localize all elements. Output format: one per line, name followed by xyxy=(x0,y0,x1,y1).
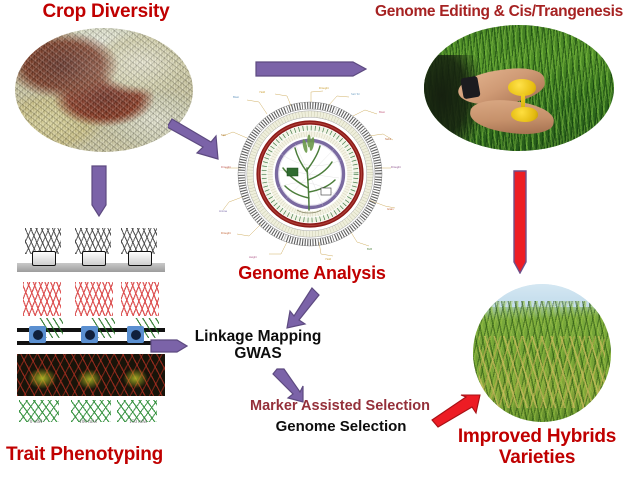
darkfield-yellow-signal xyxy=(17,354,165,396)
photo-highlight xyxy=(15,28,193,152)
label-marker-assisted-selection: Marker Assisted Selection xyxy=(240,398,440,414)
arrow-crop-to-phenotyping xyxy=(88,165,110,217)
svg-text:Yield: Yield xyxy=(259,90,265,94)
svg-text:Yield: Yield xyxy=(325,257,331,261)
circos-genome-analysis-plot: Yield Drought Salt Tol Blast Sub1 Drough… xyxy=(219,84,401,264)
rail-collar xyxy=(81,326,98,343)
treatment-label-100mm: 100 mM xyxy=(69,419,107,425)
svg-text:Drought: Drought xyxy=(221,165,231,169)
rice-panicles xyxy=(479,336,606,408)
treatment-label-150mm: 150 mM xyxy=(119,419,157,425)
phenotyping-strip-darkfield-imaging xyxy=(17,354,165,396)
phenotyping-strip-hydroponic-rail xyxy=(17,320,165,352)
rail-collar xyxy=(127,326,144,343)
improved-hybrids-photo xyxy=(473,284,611,422)
title-crop-diversity: Crop Diversity xyxy=(16,1,196,22)
label-gwas: GWAS xyxy=(180,345,336,362)
trait-phenotyping-panel xyxy=(17,228,165,424)
inset-white-panel xyxy=(321,188,331,195)
svg-text:Drought: Drought xyxy=(391,165,401,169)
genome-editing-photo xyxy=(424,25,614,151)
title-genome-analysis: Genome Analysis xyxy=(222,263,402,283)
svg-text:Blast: Blast xyxy=(233,95,239,99)
svg-text:Drought: Drought xyxy=(319,86,329,90)
title-improved-hybrids: Improved Hybrids Varieties xyxy=(438,426,636,469)
label-linkage-mapping: Linkage Mapping xyxy=(195,328,322,345)
arrow-genome-editing-to-hybrids xyxy=(510,170,530,274)
svg-text:Height: Height xyxy=(249,255,257,259)
plant-pot xyxy=(32,251,56,266)
golden-rice-grains-upper xyxy=(508,79,537,95)
rail-collar xyxy=(29,326,46,343)
arrow-genome-analysis-to-linkage xyxy=(286,287,320,329)
svg-text:Aroma: Aroma xyxy=(219,209,227,213)
label-linkage-mapping-gwas: Linkage Mapping GWAS xyxy=(180,328,336,363)
arrow-crop-to-genome-editing xyxy=(255,58,367,80)
phenotyping-treatment-labels: 0 mM 100 mM 150 mM xyxy=(17,419,165,431)
inset-green-panel xyxy=(287,168,298,176)
plant-pot xyxy=(82,251,106,266)
svg-text:Grain: Grain xyxy=(387,207,394,211)
svg-text:Salt Tol: Salt Tol xyxy=(351,92,360,96)
workflow-diagram-canvas: 0 mM 100 mM 150 mM Yield Drought Salt To… xyxy=(0,0,638,479)
improved-hybrids-line1: Improved Hybrids xyxy=(458,426,616,447)
arrow-crop-to-genome-analysis xyxy=(168,118,224,164)
label-genome-selection: Genome Selection xyxy=(248,419,434,436)
phenotyping-strip-red-fluorescence xyxy=(17,278,165,318)
fluorescent-shoot xyxy=(75,282,113,316)
svg-text:Sub1: Sub1 xyxy=(385,137,392,141)
improved-hybrids-line2: Varieties xyxy=(499,447,575,468)
svg-text:Blast: Blast xyxy=(379,110,385,114)
phenotyping-strip-greenhouse-pots xyxy=(17,228,165,276)
svg-text:Drought: Drought xyxy=(221,231,231,235)
title-trait-phenotyping: Trait Phenotyping xyxy=(6,444,196,465)
treatment-label-0mm: 0 mM xyxy=(17,419,55,425)
wristwatch xyxy=(460,75,481,99)
svg-text:BLB: BLB xyxy=(367,247,372,251)
fluorescent-shoot xyxy=(23,282,61,316)
plant-pot xyxy=(128,251,152,266)
crop-diversity-photo xyxy=(15,28,193,152)
title-genome-editing: Genome Editing & Cis/Trangenesis xyxy=(360,3,638,20)
fluorescent-shoot xyxy=(121,282,159,316)
golden-rice-grains-lower xyxy=(511,107,538,122)
